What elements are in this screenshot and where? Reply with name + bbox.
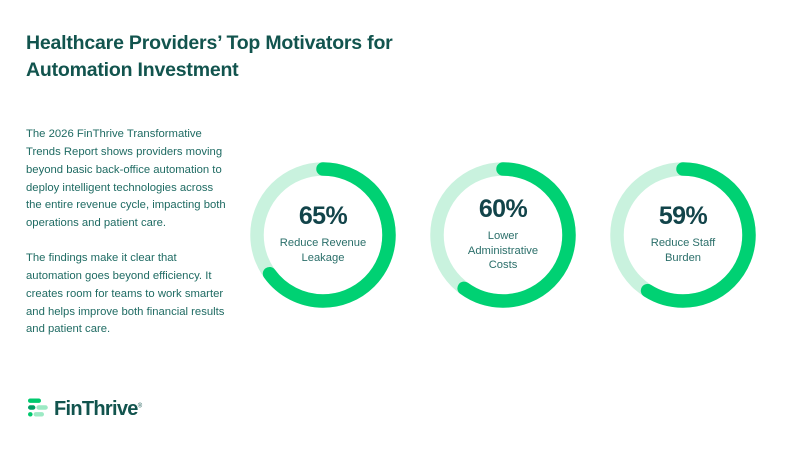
donut-label-1: Reduce Revenue Leakage (280, 236, 366, 266)
donut-label-2: Lower Administrative Costs (468, 229, 538, 273)
finthrive-bars-icon (28, 398, 48, 419)
donut-percent-2: 60% (479, 197, 527, 222)
body-paragraph-1: The 2026 FinThrive Transformative Trends… (26, 126, 226, 233)
donut-chart-lower-administrative-costs: 60% Lower Administrative Costs (430, 162, 576, 308)
donut-center-3: 59% Reduce Staff Burden (610, 162, 756, 308)
finthrive-logo: FinThrive® (28, 398, 142, 419)
donut-center-2: 60% Lower Administrative Costs (430, 162, 576, 308)
donut-label-line-1a: Reduce Revenue (280, 237, 366, 249)
page-title: Healthcare Providers’ Top Motivators for… (26, 30, 406, 83)
donut-center-1: 65% Reduce Revenue Leakage (250, 162, 396, 308)
slide-canvas: Healthcare Providers’ Top Motivators for… (0, 0, 800, 450)
donut-label-line-1b: Leakage (302, 252, 345, 264)
left-content-column: Healthcare Providers’ Top Motivators for… (26, 30, 241, 339)
donut-label-line-3a: Reduce Staff (651, 237, 715, 249)
finthrive-wordmark-text: FinThrive (54, 398, 138, 420)
donut-label-line-3b: Burden (665, 252, 701, 264)
donut-label-line-2c: Costs (489, 259, 518, 271)
trademark-symbol: ® (138, 403, 142, 409)
donut-percent-1: 65% (299, 204, 347, 229)
donut-chart-reduce-staff-burden: 59% Reduce Staff Burden (610, 162, 756, 308)
donut-chart-row: 65% Reduce Revenue Leakage 60% Lower Adm… (250, 162, 780, 322)
donut-label-line-2b: Administrative (468, 245, 538, 257)
donut-label-line-2a: Lower (488, 230, 518, 242)
body-paragraph-2: The findings make it clear that automati… (26, 250, 226, 339)
donut-label-3: Reduce Staff Burden (651, 236, 715, 266)
finthrive-wordmark: FinThrive® (54, 399, 142, 419)
donut-percent-3: 59% (659, 204, 707, 229)
donut-chart-reduce-revenue-leakage: 65% Reduce Revenue Leakage (250, 162, 396, 308)
